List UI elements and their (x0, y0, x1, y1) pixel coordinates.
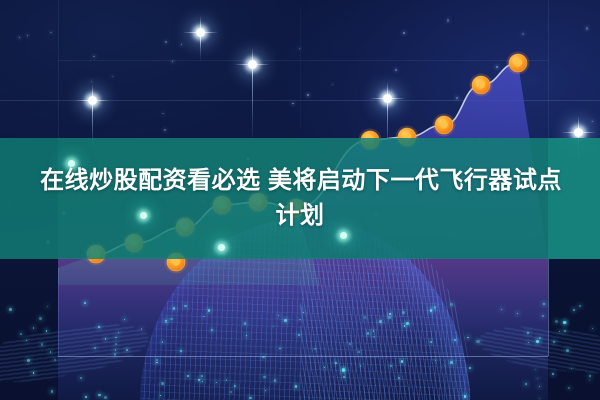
headline-line-2: 计划 (276, 202, 325, 230)
headline-line-1: 在线炒股配资看必选 美将启动下一代飞行器试点 (38, 167, 562, 195)
promo-banner: 在线炒股配资看必选 美将启动下一代飞行器试点 计划 (0, 0, 600, 400)
chart-marker-core (477, 80, 485, 88)
chart-marker-core (514, 58, 522, 66)
chart-marker-core (440, 120, 448, 128)
headline-text: 在线炒股配资看必选 美将启动下一代飞行器试点 计划 (0, 138, 600, 259)
